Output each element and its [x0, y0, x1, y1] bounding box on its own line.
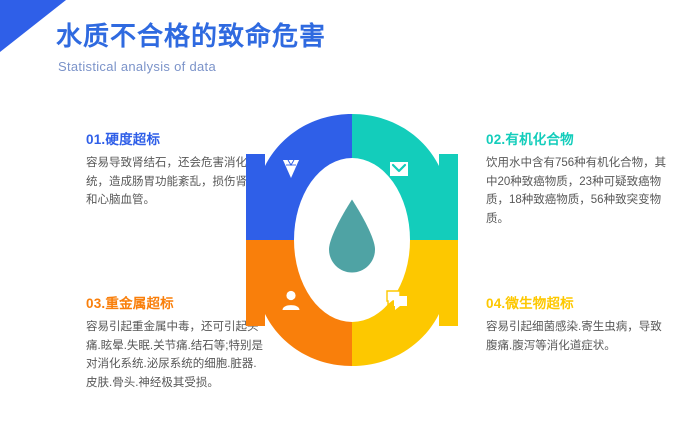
header: 水质不合格的致命危害 Statistical analysis of data — [56, 22, 476, 74]
info-block-01-title: 01.硬度超标 — [86, 128, 268, 148]
info-block-03-body: 容易引起重金属中毒，还可引起头痛.眩晕.失眠.关节痛.结石等;特别是对消化系统.… — [86, 318, 268, 393]
info-block-03-title: 03.重金属超标 — [86, 292, 268, 312]
info-block-04-body: 容易引起细菌感染.寄生虫病，导致腹痛.腹泻等消化道症状。 — [486, 318, 668, 355]
info-block-01-body: 容易导致肾结石，还会危害消化系统，造成肠胃功能紊乱，损伤肾脏和心脑血管。 — [86, 154, 268, 210]
page-subtitle: Statistical analysis of data — [58, 59, 476, 74]
info-block-04: 04.微生物超标 容易引起细菌感染.寄生虫病，导致腹痛.腹泻等消化道症状。 — [486, 292, 668, 355]
central-ring-diagram — [246, 114, 458, 366]
info-block-02-title: 02.有机化合物 — [486, 128, 668, 148]
info-block-01: 01.硬度超标 容易导致肾结石，还会危害消化系统，造成肠胃功能紊乱，损伤肾脏和心… — [86, 128, 268, 210]
info-block-02-body: 饮用水中含有756种有机化合物，其中20种致癌物质，23种可疑致癌物质，18种致… — [486, 154, 668, 229]
info-block-03: 03.重金属超标 容易引起重金属中毒，还可引起头痛.眩晕.失眠.关节痛.结石等;… — [86, 292, 268, 393]
water-droplet-icon — [321, 197, 383, 284]
info-block-04-title: 04.微生物超标 — [486, 292, 668, 312]
page-title: 水质不合格的致命危害 — [56, 22, 476, 52]
info-block-02: 02.有机化合物 饮用水中含有756种有机化合物，其中20种致癌物质，23种可疑… — [486, 128, 668, 229]
